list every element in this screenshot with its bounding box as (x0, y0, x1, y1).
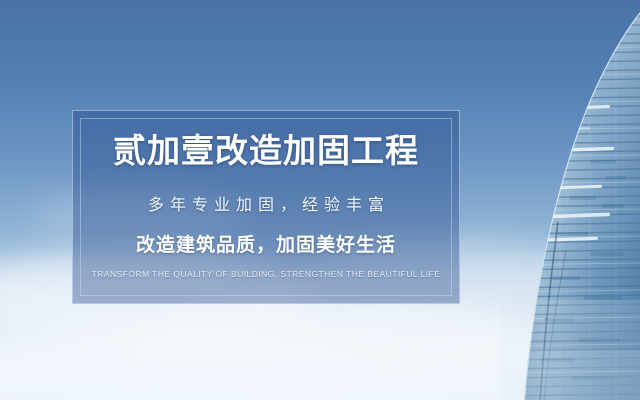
tagline-text: 改造建筑品质，加固美好生活 (136, 230, 396, 257)
subtitle-text: 多年专业加固，经验丰富 (142, 191, 390, 215)
skyscraper-image (440, 0, 640, 400)
skyscraper-icon (440, 0, 640, 400)
hero-banner: 贰加壹改造加固工程 多年专业加固，经验丰富 改造建筑品质，加固美好生活 TRAN… (0, 0, 640, 400)
panel-content: 贰加壹改造加固工程 多年专业加固，经验丰富 改造建筑品质，加固美好生活 TRAN… (73, 111, 459, 303)
headline-title: 贰加壹改造加固工程 (113, 133, 419, 169)
hero-text-panel: 贰加壹改造加固工程 多年专业加固，经验丰富 改造建筑品质，加固美好生活 TRAN… (72, 110, 460, 304)
english-tagline-text: TRANSFORM THE QUALITY OF BUILDING, STREN… (92, 269, 441, 279)
